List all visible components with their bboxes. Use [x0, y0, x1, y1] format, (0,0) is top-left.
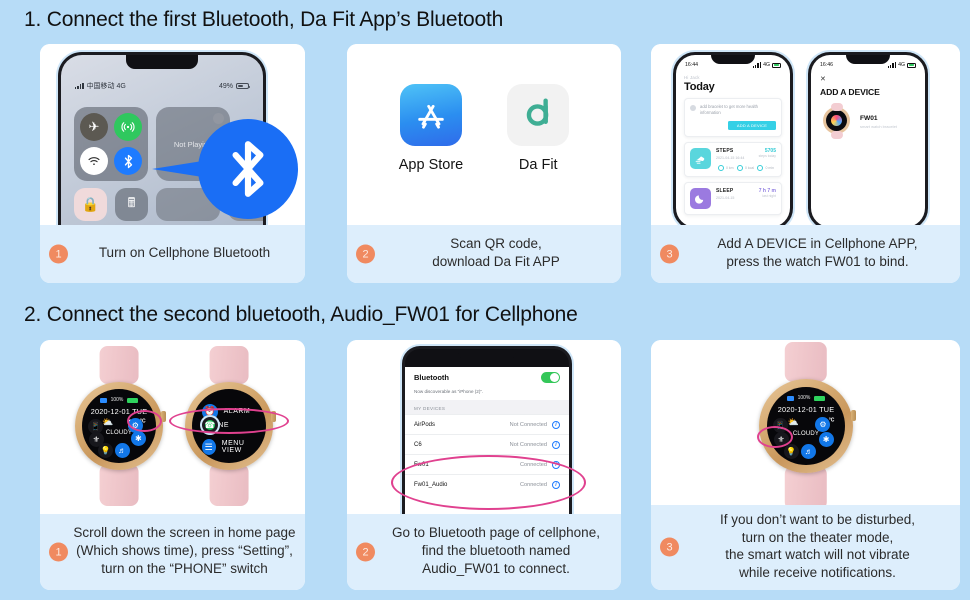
battery-icon — [127, 398, 138, 403]
signal-icon — [75, 83, 84, 89]
add-device-body: ✕ ADD A DEVICE — [811, 75, 925, 225]
step-card-1-1: 中国移动 4G 49% ✈ — [40, 44, 305, 283]
cellular-data-icon[interactable] — [114, 113, 142, 141]
status-right: 4G — [753, 62, 781, 68]
status-time: 16:44 — [685, 62, 698, 68]
steps-subtitle: 2021-04-15 16:44 — [716, 156, 744, 160]
bluetooth-icon — [100, 398, 107, 403]
signal-icon — [888, 62, 897, 68]
menu-item-menu-view[interactable]: ☰ MENU VIEW — [202, 439, 262, 455]
connectivity-tile-group: ✈ — [74, 107, 148, 181]
watch-strap-bottom — [210, 464, 249, 506]
caption-text: Scroll down the screen in home page (Whi… — [73, 524, 295, 577]
phone-notch — [711, 55, 755, 64]
sleep-value: 7 h 7 m last night — [759, 188, 776, 198]
watch-strap-bottom — [100, 464, 139, 506]
device-row[interactable]: AirPods Not Connected i — [405, 414, 569, 434]
step-caption-1-3: 3 Add A DEVICE in Cellphone APP, press t… — [651, 225, 960, 283]
watch-crown[interactable] — [851, 410, 856, 421]
battery-icon — [907, 63, 916, 68]
steps-stats: 0 km 0 kcal 0 min — [716, 165, 776, 171]
network-label: 4G — [763, 62, 770, 68]
carrier-label: 中国移动 4G — [87, 81, 126, 91]
caption-text: Add A DEVICE in Cellphone APP, press the… — [717, 235, 917, 271]
steps-row-1: 中国移动 4G 49% ✈ — [0, 44, 970, 283]
menu-label: MENU VIEW — [222, 440, 262, 454]
step-badge: 1 — [49, 543, 68, 562]
music-icon[interactable]: ♬ — [115, 443, 130, 458]
screen-mirroring-icon[interactable]: 🖩 — [115, 188, 148, 221]
airplane-mode-icon[interactable]: ✈ — [80, 113, 108, 141]
caption-text: Go to Bluetooth page of cellphone, find … — [392, 524, 600, 577]
battery-icon — [772, 63, 781, 68]
my-devices-label: MY DEVICES — [405, 400, 569, 414]
airplay-icon[interactable] — [213, 113, 224, 124]
phone-screen: 16:46 4G ✕ ADD A DEVICE — [811, 55, 925, 225]
step-caption-1-2: 2 Scan QR code, download Da Fit APP — [347, 225, 621, 283]
sleep-icon — [690, 188, 711, 209]
phone-screen: 16:44 4G Hi Jack Today — [676, 55, 790, 225]
sleep-title: SLEEP — [716, 188, 734, 194]
theater-mode-highlight-ellipse — [757, 426, 793, 448]
section-1-title: 1. Connect the first Bluetooth, Da Fit A… — [0, 8, 503, 32]
watch-date: 2020-12-01 TUE — [767, 405, 846, 414]
settings-highlight-ellipse — [127, 410, 162, 432]
close-icon[interactable]: ✕ — [820, 75, 916, 83]
add-device-heading: ADD A DEVICE — [820, 87, 916, 97]
watch-status-bar: 100% — [82, 397, 156, 403]
step-badge: 3 — [660, 538, 679, 557]
instruction-page: 1. Connect the first Bluetooth, Da Fit A… — [0, 0, 970, 600]
sleep-number: 7 h 7 m — [759, 188, 776, 194]
phone-row-highlight-ellipse — [169, 408, 289, 434]
step-badge: 1 — [49, 245, 68, 264]
steps-icon — [690, 148, 711, 169]
greeting-label: Hi Jack — [684, 75, 782, 80]
status-time: 16:46 — [820, 62, 833, 68]
control-center-illustration: 中国移动 4G 49% ✈ — [40, 44, 305, 225]
watch-strap-top — [100, 346, 139, 384]
signal-icon — [753, 62, 762, 68]
step-badge: 2 — [356, 543, 375, 562]
steps-row-2: 100% 2020-12-01 TUE ⛅ 20°C CLOUDY 📱 ⚜ — [0, 340, 970, 590]
battery-icon — [814, 396, 825, 401]
brightness-icon[interactable]: ✱ — [819, 432, 834, 447]
step-badge: 2 — [356, 245, 375, 264]
device-status-group: Not Connected i — [510, 421, 560, 429]
app-store-label: App Store — [399, 157, 464, 173]
step-card-2-2: Bluetooth Now discoverable as “iPhone (2… — [347, 340, 621, 590]
step-caption-2-2: 2 Go to Bluetooth page of cellphone, fin… — [347, 514, 621, 590]
app-icons-illustration: App Store Da Fit — [347, 44, 621, 225]
device-row[interactable]: C6 Not Connected i — [405, 434, 569, 454]
da-fit-item[interactable]: Da Fit — [507, 84, 569, 173]
watch-thumbnail — [820, 105, 853, 138]
device-status: Not Connected — [510, 422, 547, 428]
sleep-subtitle: 2021-04-15 — [716, 196, 734, 200]
flashlight-icon[interactable]: 💡 — [784, 444, 799, 459]
steps-stat: 0 km — [718, 165, 734, 171]
iphone-today-frame: 16:44 4G Hi Jack Today — [673, 52, 793, 225]
app-list: App Store Da Fit — [347, 44, 621, 225]
step-badge: 3 — [660, 245, 679, 264]
network-label: 4G — [898, 62, 905, 68]
bluetooth-callout-icon — [198, 119, 298, 219]
phone-status-bar: 中国移动 4G 49% — [61, 81, 263, 91]
caption-text: If you don’t want to be disturbed, turn … — [720, 511, 915, 582]
add-device-screen: 16:46 4G ✕ ADD A DEVICE — [811, 55, 925, 225]
da-fit-icon[interactable] — [507, 84, 569, 146]
battery-percent: 100% — [798, 395, 811, 401]
device-info: FW01 smart watch bracelet — [860, 115, 897, 129]
app-store-item[interactable]: App Store — [399, 84, 464, 173]
phone-notch — [458, 349, 516, 360]
add-a-device-button[interactable]: ADD A DEVICE — [728, 121, 776, 130]
status-right: 49% — [219, 83, 249, 90]
brightness-icon[interactable]: ✱ — [131, 431, 146, 446]
status-left: 中国移动 4G — [75, 81, 126, 91]
fw01-devices-highlight-ellipse — [391, 455, 586, 510]
music-icon[interactable]: ♬ — [801, 444, 816, 459]
steps-stat: 0 min — [757, 165, 774, 171]
bluetooth-icon — [787, 396, 794, 401]
step-caption-2-3: 3 If you don’t want to be disturbed, tur… — [651, 505, 960, 590]
device-name: AirPods — [414, 422, 435, 428]
step-card-2-3: 100% 2020-12-01 TUE ⛅ 20°C CLOUDY 📱 ⚜ — [651, 340, 960, 590]
steps-card[interactable]: STEPS 2021-04-15 16:44 5705 steps today — [684, 142, 782, 177]
steps-unit: steps today — [759, 154, 776, 158]
info-icon[interactable]: i — [552, 421, 560, 429]
smartwatch-menu: ⏰ ALARM ☎ PHONE ☰ MENU VIEW — [175, 346, 283, 506]
today-heading: Today — [684, 81, 782, 93]
bluetooth-settings-illustration: Bluetooth Now discoverable as “iPhone (2… — [347, 340, 621, 514]
menu-view-icon: ☰ — [202, 439, 216, 455]
app-store-icon[interactable] — [400, 84, 462, 146]
step-caption-2-1: 1 Scroll down the screen in home page (W… — [40, 514, 305, 590]
bluetooth-title: Bluetooth — [414, 373, 449, 382]
device-list-item[interactable]: FW01 smart watch bracelet — [820, 105, 916, 138]
device-subtitle: smart watch bracelet — [860, 124, 897, 129]
device-status: Not Connected — [510, 442, 547, 448]
add-bracelet-card: add bracelet to get more health informat… — [684, 98, 782, 137]
smartwatch-theater: 100% 2020-12-01 TUE ⛅ 20°C CLOUDY 📱 ⚜ — [747, 342, 865, 505]
step-card-1-3: 16:44 4G Hi Jack Today — [651, 44, 960, 283]
watch-strap-top — [785, 342, 827, 382]
battery-icon — [236, 83, 249, 90]
steps-main: STEPS 2021-04-15 16:44 5705 steps today — [716, 148, 776, 171]
sleep-main: SLEEP 2021-04-15 7 h 7 m last night — [716, 188, 776, 209]
info-icon[interactable]: i — [552, 441, 560, 449]
section-2-title: 2. Connect the second bluetooth, Audio_F… — [0, 303, 578, 327]
lock-rotation-icon[interactable]: 🔒 — [74, 188, 107, 221]
caption-text: Scan QR code, download Da Fit APP — [432, 235, 560, 271]
bluetooth-toggle-icon[interactable] — [114, 147, 142, 175]
steps-value: 5705 steps today — [759, 148, 776, 158]
battery-percent: 49% — [219, 83, 233, 90]
sleep-unit: last night — [759, 194, 776, 198]
bluetooth-switch[interactable] — [541, 372, 560, 383]
today-body: Hi Jack Today add bracelet to get more h… — [676, 75, 790, 225]
watch-settings-illustration: 100% 2020-12-01 TUE ⛅ 20°C CLOUDY 📱 ⚜ — [40, 340, 305, 514]
wifi-icon[interactable] — [80, 147, 108, 175]
battery-percent: 100% — [111, 397, 124, 403]
steps-stat: 0 kcal — [737, 165, 754, 171]
da-fit-today-screen: 16:44 4G Hi Jack Today — [676, 55, 790, 225]
device-name: FW01 — [860, 115, 897, 122]
device-status-group: Not Connected i — [510, 441, 560, 449]
step-card-2-1: 100% 2020-12-01 TUE ⛅ 20°C CLOUDY 📱 ⚜ — [40, 340, 305, 590]
discoverable-label: Now discoverable as “iPhone (2)”. — [405, 389, 569, 400]
watch-strap-top — [210, 346, 249, 384]
da-fit-label: Da Fit — [519, 157, 558, 173]
flashlight-icon[interactable]: 💡 — [98, 443, 113, 458]
sleep-card[interactable]: SLEEP 2021-04-15 7 h 7 m last night — [684, 182, 782, 215]
watch-status-bar: 100% — [767, 395, 846, 401]
steps-title: STEPS — [716, 148, 744, 154]
da-fit-screens-illustration: 16:44 4G Hi Jack Today — [651, 44, 960, 225]
caption-text: Turn on Cellphone Bluetooth — [99, 244, 270, 262]
smartwatch-home: 100% 2020-12-01 TUE ⛅ 20°C CLOUDY 📱 ⚜ — [65, 346, 173, 506]
steps-number: 5705 — [765, 148, 776, 154]
phone-notch — [846, 55, 890, 64]
step-caption-1-1: 1 Turn on Cellphone Bluetooth — [40, 225, 305, 283]
step-card-1-2: App Store Da Fit — [347, 44, 621, 283]
iphone-add-device-frame: 16:46 4G ✕ ADD A DEVICE — [808, 52, 928, 225]
device-name: C6 — [414, 442, 422, 448]
theater-mode-illustration: 100% 2020-12-01 TUE ⛅ 20°C CLOUDY 📱 ⚜ — [651, 340, 960, 505]
bluetooth-header: Bluetooth — [405, 367, 569, 389]
info-icon — [690, 105, 696, 111]
add-bracelet-hint: add bracelet to get more health informat… — [690, 104, 776, 117]
phone-notch — [126, 55, 198, 69]
status-right: 4G — [888, 62, 916, 68]
